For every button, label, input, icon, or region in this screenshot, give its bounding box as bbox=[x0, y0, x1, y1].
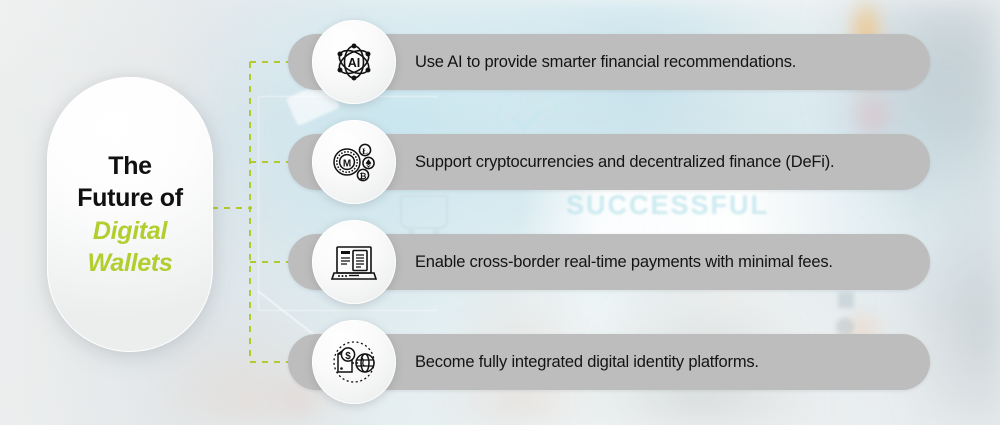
svg-text:AI: AI bbox=[348, 56, 361, 70]
title-line-2: Future of bbox=[77, 182, 183, 215]
row-icon-badge-4[interactable]: $ bbox=[312, 320, 396, 404]
row-icon-badge-2[interactable]: M Ł ₿ bbox=[312, 120, 396, 204]
title-card: The Future of Digital Wallets bbox=[47, 77, 213, 352]
laptop-document-icon bbox=[330, 238, 378, 286]
row-label-2: Support cryptocurrencies and decentraliz… bbox=[415, 134, 834, 190]
title-accent-2: Wallets bbox=[88, 247, 173, 280]
wallet-globe-icon: $ bbox=[330, 338, 378, 386]
connector-vertical-line bbox=[249, 62, 251, 362]
row-label-3: Enable cross-border real-time payments w… bbox=[415, 234, 833, 290]
svg-text:₿: ₿ bbox=[360, 171, 367, 181]
row-icon-badge-3[interactable] bbox=[312, 220, 396, 304]
crypto-coins-icon: M Ł ₿ bbox=[330, 138, 378, 186]
title-line-1: The bbox=[108, 150, 152, 183]
title-accent-1: Digital bbox=[93, 215, 167, 248]
row-icon-badge-1[interactable]: AI bbox=[312, 20, 396, 104]
row-label-4: Become fully integrated digital identity… bbox=[415, 334, 759, 390]
svg-text:M: M bbox=[343, 159, 351, 170]
infographic-canvas: SUCCESSFUL The Future of Digital Wallets… bbox=[0, 0, 1000, 425]
ai-atom-icon: AI bbox=[330, 38, 378, 86]
row-label-1: Use AI to provide smarter financial reco… bbox=[415, 34, 796, 90]
svg-text:$: $ bbox=[345, 351, 351, 362]
svg-text:Ł: Ł bbox=[362, 146, 368, 156]
